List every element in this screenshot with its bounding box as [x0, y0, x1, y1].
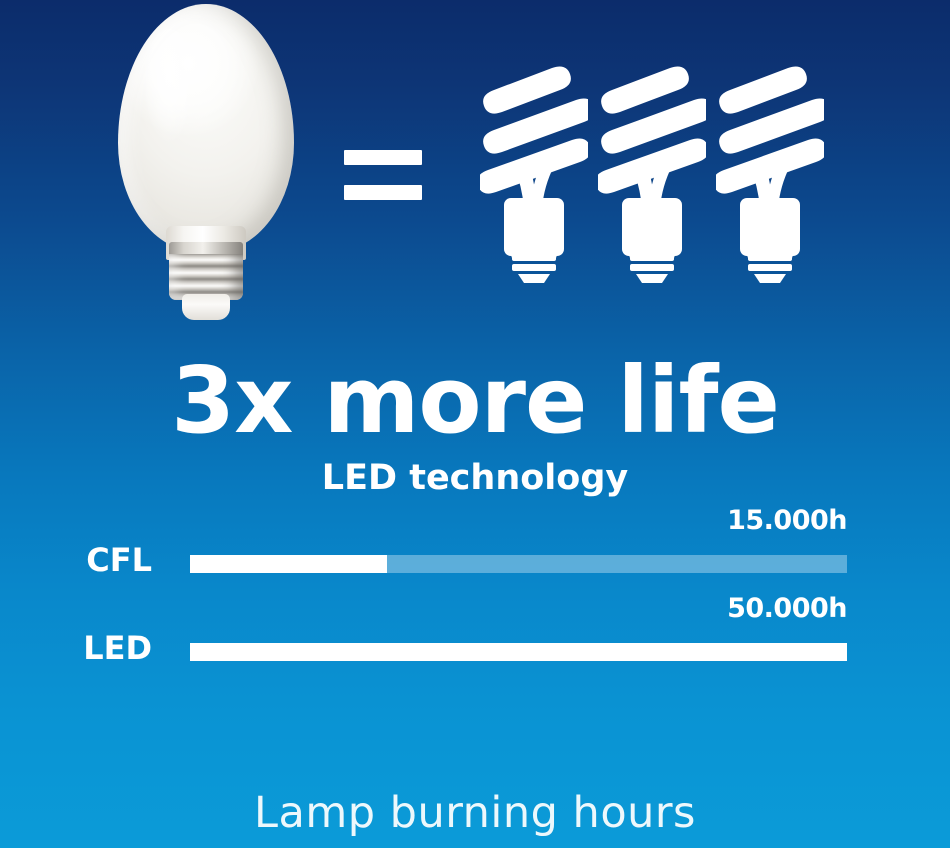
cfl-bulb-icon-3: [716, 58, 824, 283]
bar-row-led: 50.000h LED: [0, 593, 950, 671]
bar-fill-led: [190, 643, 847, 661]
bar-fill-cfl: [190, 555, 387, 573]
lamp-hours-bar-chart: 15.000h CFL 50.000h LED: [0, 505, 950, 685]
infographic-poster: 3x more life LED technology 15.000h CFL …: [0, 0, 950, 848]
page-subtitle: LED technology: [0, 458, 950, 498]
hero-illustration-row: [0, 0, 950, 330]
bar-value-led: 50.000h: [0, 593, 847, 625]
cfl-bulb-icon-1: [480, 58, 588, 283]
bar-label-cfl: CFL: [0, 543, 152, 577]
equals-icon-bar-top: [344, 150, 422, 165]
bar-track-cfl: [190, 555, 847, 573]
chart-caption: Lamp burning hours: [0, 788, 950, 838]
led-bulb-screw-base: [169, 242, 243, 300]
bar-row-cfl: 15.000h CFL: [0, 505, 950, 583]
cfl-bulb-icon-2: [598, 58, 706, 283]
led-bulb-icon: [118, 4, 294, 320]
cfl-bulb-group: [480, 58, 830, 283]
equals-icon: [344, 150, 422, 200]
bar-track-led: [190, 643, 847, 661]
bar-label-led: LED: [0, 631, 152, 665]
bar-value-cfl: 15.000h: [0, 505, 847, 537]
led-bulb-glass: [118, 4, 294, 252]
equals-icon-bar-bottom: [344, 185, 422, 200]
page-title: 3x more life: [0, 353, 950, 449]
led-bulb-tip: [182, 294, 230, 320]
